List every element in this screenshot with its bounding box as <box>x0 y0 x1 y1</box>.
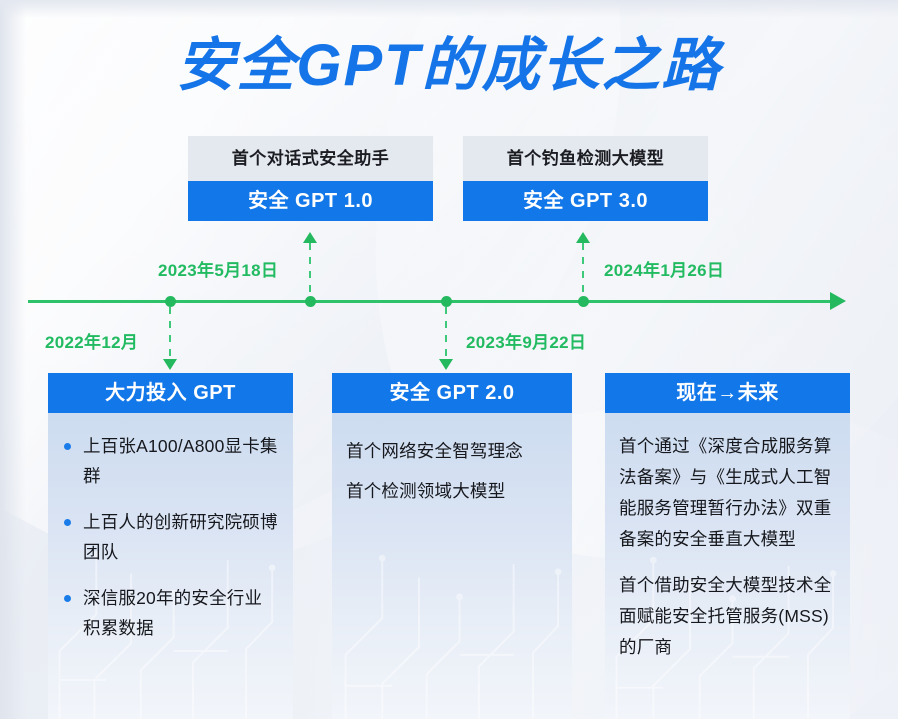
connector-dot1-card1 <box>169 307 171 359</box>
list-item: 深信服20年的安全行业积累数据 <box>62 583 279 643</box>
top-card-2-subtitle: 首个钓鱼检测大模型 <box>463 136 708 181</box>
card-3-body: 首个通过《深度合成服务算法备案》与《生成式人工智能服务管理暂行办法》双重备案的安… <box>605 413 850 719</box>
connector-dot4-topcard2 <box>582 243 584 296</box>
page-title: 安全GPT的成长之路 <box>0 33 898 99</box>
timeline-dot-3 <box>441 296 452 307</box>
connector-dot3-card2 <box>445 307 447 359</box>
card-2-line-1: 首个网络安全智驾理念 <box>346 431 558 471</box>
background-edge-left <box>0 0 26 719</box>
connector-dot2-arrow-up-icon <box>303 232 317 243</box>
card-3-paragraph-2: 首个借助安全大模型技术全面赋能安全托管服务(MSS)的厂商 <box>619 570 836 663</box>
card-3-header: 现在→未来 <box>605 373 850 413</box>
background-edge-top <box>0 0 898 18</box>
timeline-dot-2 <box>305 296 316 307</box>
card-2-line-2: 首个检测领域大模型 <box>346 471 558 511</box>
list-item: 上百张A100/A800显卡集群 <box>62 431 279 491</box>
top-event-card-2: 首个钓鱼检测大模型 安全 GPT 3.0 <box>463 136 708 221</box>
detail-card-gpt-2: 安全 GPT 2.0 首个网络安全智驾理念 首 <box>332 373 572 719</box>
card-1-header: 大力投入 GPT <box>48 373 293 413</box>
card-3-paragraph-1: 首个通过《深度合成服务算法备案》与《生成式人工智能服务管理暂行办法》双重备案的安… <box>619 431 836 555</box>
card-1-body: 上百张A100/A800显卡集群 上百人的创新研究院硕博团队 深信服20年的安全… <box>48 413 293 719</box>
timeline-dot-4 <box>578 296 589 307</box>
timeline-date-3: 2023年9月22日 <box>466 328 586 353</box>
top-card-1-subtitle: 首个对话式安全助手 <box>188 136 433 181</box>
circuit-pattern-icon <box>332 535 564 719</box>
list-item: 上百人的创新研究院硕博团队 <box>62 507 279 567</box>
top-event-card-1: 首个对话式安全助手 安全 GPT 1.0 <box>188 136 433 221</box>
timeline-dot-1 <box>165 296 176 307</box>
connector-dot2-topcard1 <box>309 243 311 296</box>
timeline-date-1: 2022年12月 <box>45 328 138 353</box>
card-2-body: 首个网络安全智驾理念 首个检测领域大模型 <box>332 413 572 719</box>
connector-dot3-arrow-down-icon <box>439 359 453 370</box>
top-card-2-title: 安全 GPT 3.0 <box>463 181 708 221</box>
timeline-axis <box>28 300 834 303</box>
connector-dot4-arrow-up-icon <box>576 232 590 243</box>
infographic-canvas: 安全GPT的成长之路 首个对话式安全助手 安全 GPT 1.0 首个钓鱼检测大模… <box>0 0 898 719</box>
connector-dot1-arrow-down-icon <box>163 359 177 370</box>
timeline-arrow-head-icon <box>830 292 846 310</box>
card-1-list: 上百张A100/A800显卡集群 上百人的创新研究院硕博团队 深信服20年的安全… <box>62 431 279 643</box>
top-card-1-title: 安全 GPT 1.0 <box>188 181 433 221</box>
card-2-header: 安全 GPT 2.0 <box>332 373 572 413</box>
detail-card-invest-gpt: 大力投入 GPT 上百张A100/A80 <box>48 373 293 719</box>
timeline-date-2: 2023年5月18日 <box>158 256 278 281</box>
detail-card-now-future: 现在→未来 首个通过《深度合成服务算法备案》与《生成式人工 <box>605 373 850 719</box>
timeline-date-4: 2024年1月26日 <box>604 256 724 281</box>
